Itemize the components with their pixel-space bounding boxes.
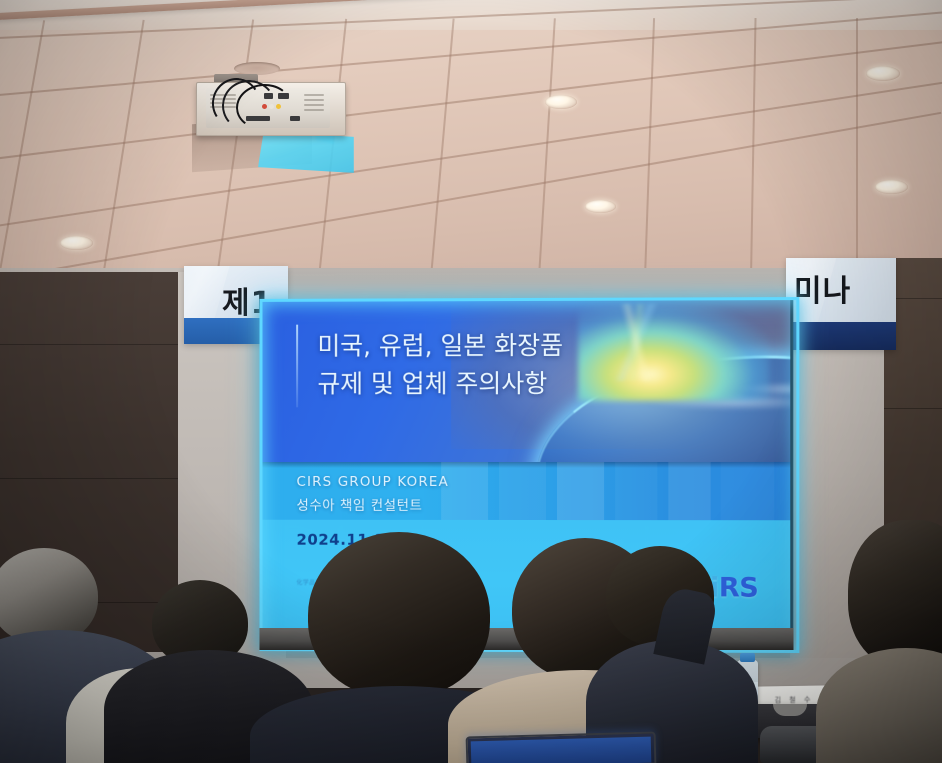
slide-subtitle-band: CIRS GROUP KOREA 성수아 책임 컨설턴트	[262, 462, 790, 520]
downlight-icon	[545, 95, 577, 109]
downlight-icon	[866, 66, 900, 81]
audience-head-3	[308, 532, 490, 698]
cirs-logo-rs: RS	[719, 572, 759, 603]
slide-title-line1: 미국, 유럽, 일본 화장품	[317, 326, 654, 365]
slide-presenter: 성수아 책임 컨설턴트	[296, 495, 449, 519]
slide-title-line2: 규제 및 업체 주의사항	[317, 364, 654, 403]
laptop-screen	[471, 737, 652, 763]
laptop-icon	[466, 732, 657, 763]
ceiling-grid-col-1	[97, 20, 144, 290]
slide-hero-area: 미국, 유럽, 일본 화장품 규제 및 업체 주의사항	[262, 300, 790, 462]
ceiling-grid-col-6	[643, 18, 655, 290]
ceiling-grid-col-7	[749, 18, 756, 290]
ceiling-grid-row-2	[0, 41, 942, 162]
ceiling-grid-col-8	[856, 18, 858, 290]
slide-subtitle-block: CIRS GROUP KOREA 성수아 책임 컨설턴트	[296, 471, 449, 518]
bottle-cap-blue	[740, 653, 755, 662]
downlight-icon	[60, 236, 93, 250]
slide-title: 미국, 유럽, 일본 화장품 규제 및 업체 주의사항	[317, 326, 654, 403]
ceiling-grid-col-4	[427, 19, 454, 290]
banner-right-text: 미나	[794, 266, 851, 310]
ceiling	[0, 0, 942, 290]
downlight-icon	[585, 200, 616, 213]
title-accent-rule	[296, 324, 298, 407]
slide-org: CIRS GROUP KOREA	[296, 471, 449, 495]
seminar-room-photo: 제1 미나 미국, 유럽, 일본 화장품	[0, 0, 942, 763]
ceiling-grid-col-5	[536, 18, 555, 290]
chair-notch	[773, 704, 807, 716]
projector-beam	[258, 131, 354, 173]
banner-right: 미나	[786, 258, 896, 350]
audience-head-6	[848, 520, 942, 668]
ceiling-grid-row-3	[0, 81, 942, 229]
banner-right-stripe	[786, 322, 896, 350]
downlight-icon	[875, 180, 908, 194]
